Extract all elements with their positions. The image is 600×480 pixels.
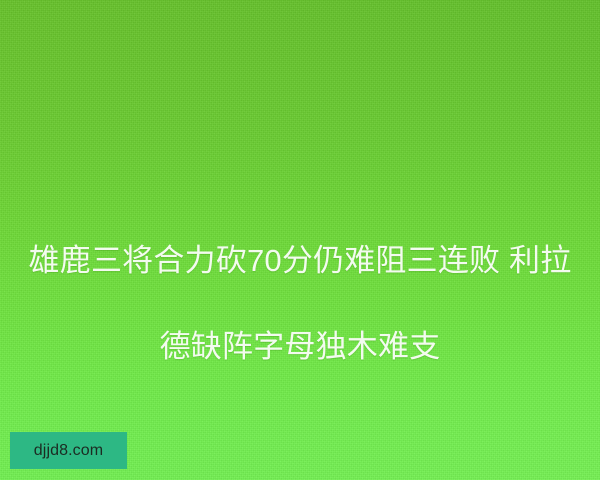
watermark-badge: djjd8.com	[10, 432, 127, 469]
watermark-label: djjd8.com	[34, 443, 103, 459]
headline-line-2: 德缺阵字母独木难支	[14, 325, 586, 368]
news-banner-image: 雄鹿三将合力砍70分仍难阻三连败 利拉 德缺阵字母独木难支 djjd8.com	[0, 0, 600, 480]
headline-line-1: 雄鹿三将合力砍70分仍难阻三连败 利拉	[14, 239, 586, 282]
headline-text: 雄鹿三将合力砍70分仍难阻三连败 利拉 德缺阵字母独木难支	[0, 196, 600, 411]
